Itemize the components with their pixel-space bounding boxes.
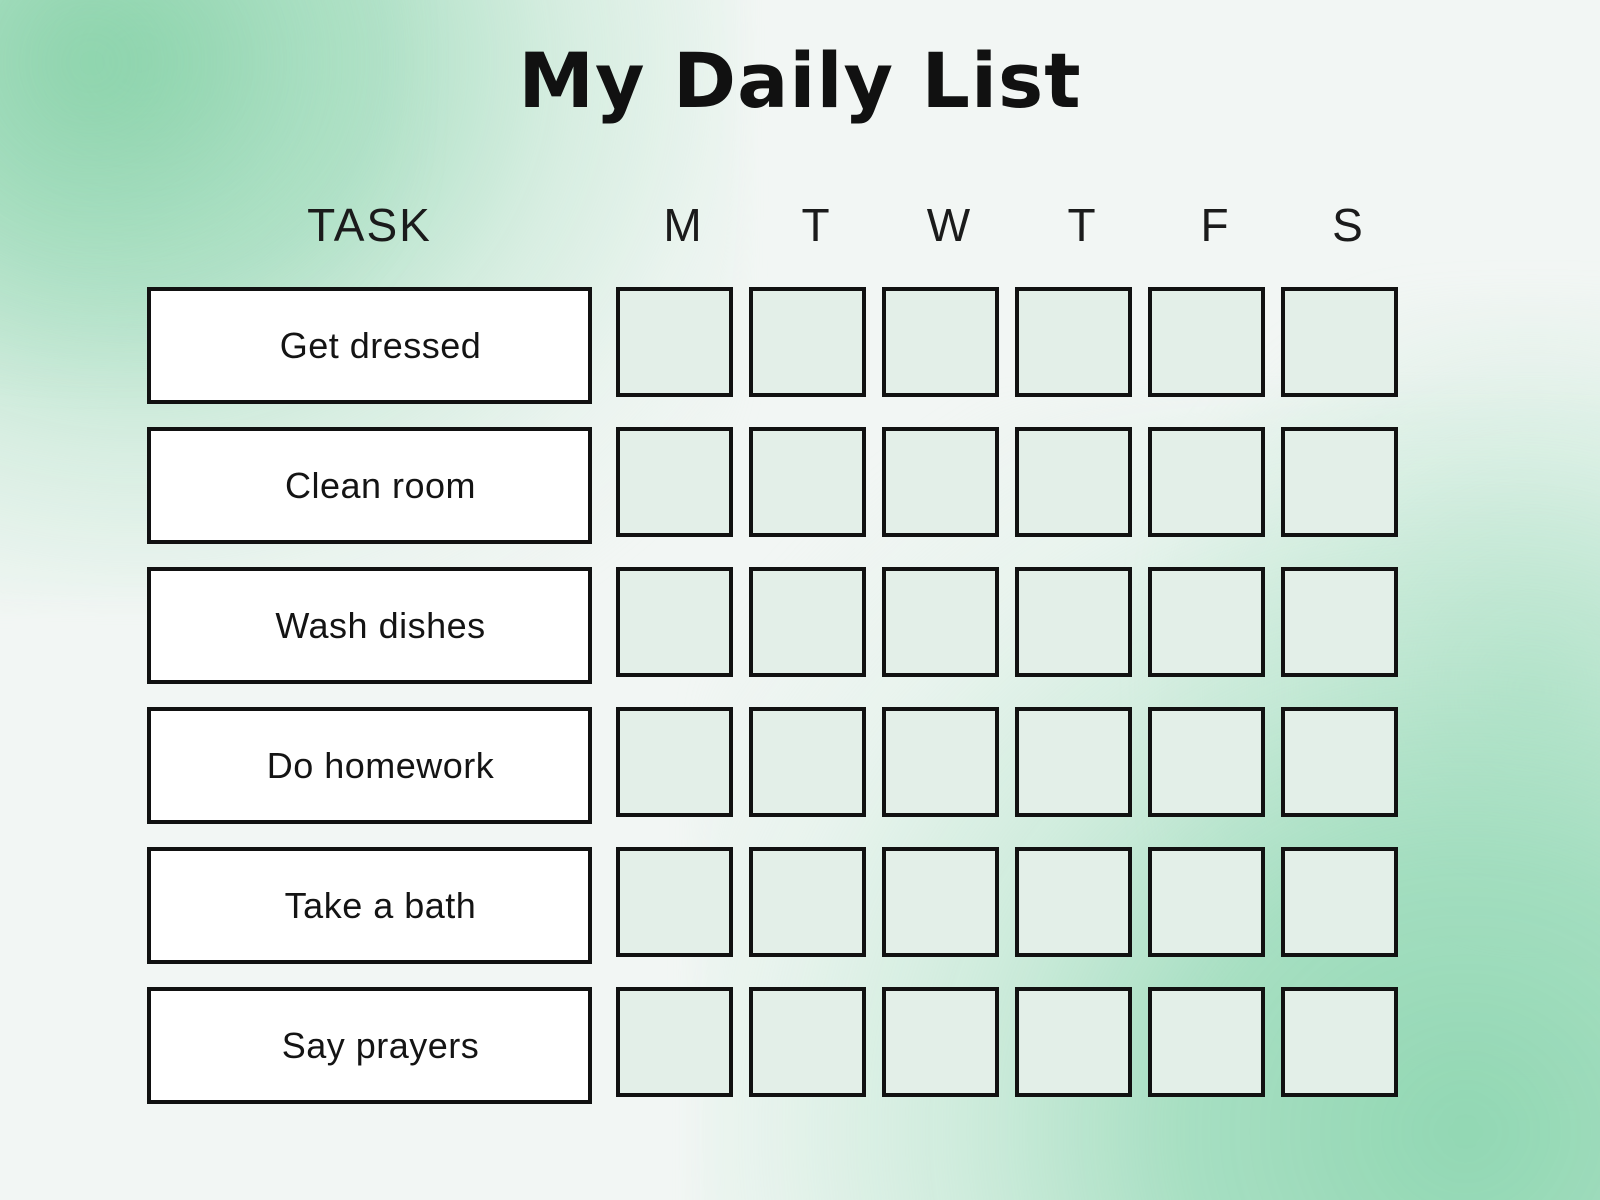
task-row: Say prayers (147, 987, 1452, 1104)
checkbox-cell[interactable] (1148, 287, 1265, 397)
checkbox-cell[interactable] (749, 987, 866, 1097)
task-row: Get dressed (147, 287, 1452, 404)
task-column-header: TASK (147, 190, 592, 260)
checkbox-cell[interactable] (1015, 567, 1132, 677)
page-title: My Daily List (0, 36, 1600, 125)
daily-chore-chart: My Daily List TASK MTWTFS Get dressedCle… (0, 0, 1600, 1200)
task-row: Do homework (147, 707, 1452, 824)
task-label-text: Get dressed (258, 325, 482, 367)
checkbox-cell[interactable] (1281, 987, 1398, 1097)
checkbox-cell[interactable] (1015, 847, 1132, 957)
checkbox-cell[interactable] (749, 847, 866, 957)
checkbox-cell[interactable] (1281, 847, 1398, 957)
checkbox-cell[interactable] (1148, 707, 1265, 817)
checkbox-cell[interactable] (1281, 427, 1398, 537)
checkbox-cell[interactable] (749, 567, 866, 677)
checkbox-cell[interactable] (1148, 567, 1265, 677)
checkbox-cell[interactable] (1281, 707, 1398, 817)
checkbox-cell[interactable] (616, 567, 733, 677)
task-label-text: Wash dishes (253, 605, 485, 647)
checkbox-cell[interactable] (1015, 287, 1132, 397)
checkbox-cell[interactable] (882, 707, 999, 817)
checkbox-cell[interactable] (882, 567, 999, 677)
checkbox-cell[interactable] (1281, 287, 1398, 397)
checkbox-cell[interactable] (616, 287, 733, 397)
task-label-box[interactable]: Wash dishes (147, 567, 592, 684)
task-label-box[interactable]: Get dressed (147, 287, 592, 404)
task-label-box[interactable]: Do homework (147, 707, 592, 824)
checkbox-cell[interactable] (882, 427, 999, 537)
checkbox-cell[interactable] (1015, 707, 1132, 817)
task-label-box[interactable]: Say prayers (147, 987, 592, 1104)
day-header-tuesday: T (753, 190, 878, 260)
table-header-row: TASK MTWTFS (147, 190, 1452, 260)
task-label-text: Take a bath (263, 885, 477, 927)
checkbox-cell[interactable] (616, 707, 733, 817)
checkbox-cell[interactable] (882, 987, 999, 1097)
checkbox-cell[interactable] (1148, 847, 1265, 957)
task-row: Clean room (147, 427, 1452, 544)
checkbox-cell[interactable] (882, 847, 999, 957)
checkbox-cell[interactable] (1148, 427, 1265, 537)
checkbox-cell[interactable] (1015, 427, 1132, 537)
checkbox-cell[interactable] (1148, 987, 1265, 1097)
checkbox-cell[interactable] (1281, 567, 1398, 677)
task-label-box[interactable]: Clean room (147, 427, 592, 544)
day-header-saturday: S (1285, 190, 1410, 260)
checkbox-cell[interactable] (749, 707, 866, 817)
task-label-text: Clean room (263, 465, 476, 507)
checkbox-cell[interactable] (882, 287, 999, 397)
task-row: Wash dishes (147, 567, 1452, 684)
day-header-monday: M (620, 190, 745, 260)
task-label-text: Say prayers (260, 1025, 480, 1067)
checkbox-cell[interactable] (616, 847, 733, 957)
day-header-wednesday: W (886, 190, 1011, 260)
task-label-box[interactable]: Take a bath (147, 847, 592, 964)
checkbox-cell[interactable] (749, 427, 866, 537)
checkbox-cell[interactable] (749, 287, 866, 397)
checkbox-cell[interactable] (1015, 987, 1132, 1097)
day-header-thursday: T (1019, 190, 1144, 260)
checkbox-cell[interactable] (616, 427, 733, 537)
task-row: Take a bath (147, 847, 1452, 964)
day-header-friday: F (1152, 190, 1277, 260)
task-label-text: Do homework (245, 745, 495, 787)
checkbox-cell[interactable] (616, 987, 733, 1097)
